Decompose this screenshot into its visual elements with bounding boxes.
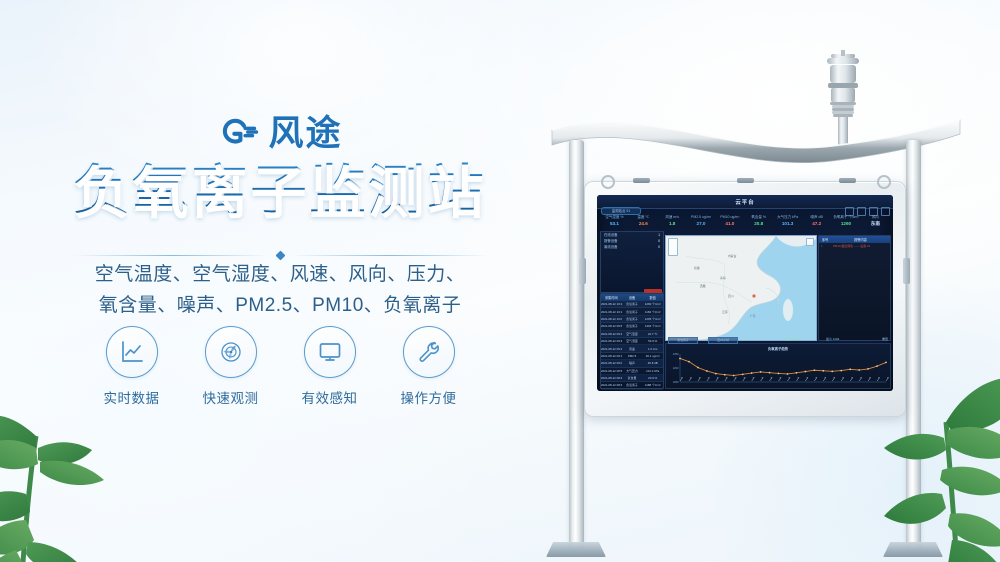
line-chart-icon [119,339,145,365]
table-cell: 1.6 m/s [642,347,663,351]
support-post-left [569,140,584,550]
kpi-value: 1.8 [659,220,686,227]
device-status-value: 0 [658,244,660,250]
kpi-metric: PM2.5 ug/m³27.0 [688,215,715,227]
kpi-metric: 氧含量 %20.8 [745,215,772,227]
table-cell: 2021-08-12 10:20 [601,302,622,306]
dashboard-screen[interactable]: 云平台 监测站点 01 空气湿度 %53.1温度 ℃24.6风速 m/s1.8P… [597,195,893,391]
brand-lockup: 风途 [0,112,560,154]
map-fullscreen-icon[interactable] [806,238,814,246]
table-cell: 2021-08-12 08:30 [601,383,622,387]
feature-icon-wrap [106,326,158,378]
kpi-metric: 大气压力 kPa101.3 [774,215,801,227]
kpi-value: 20.8 [745,220,772,227]
device-status-panel: 在线设备1报警设备0离线设备0 [600,231,664,293]
table-row[interactable]: 2021-08-12 09:10PM2.526.1 ug/m³ [601,353,663,360]
map-region-label: 新疆 [694,266,700,270]
table-cell: 2021-08-12 09:20 [601,347,622,351]
kpi-row-right: 噪声 dB47.2负氧离子 个/cm³1260风向东南 [803,215,889,227]
feature-item-effective-sensing: 有效感知 [299,326,361,407]
divider-line-right [292,255,488,256]
feature-item-realtime-data: 实时数据 [101,326,163,407]
alert-content: PM10 超出阈值 —— 设备 01 [833,244,890,248]
table-cell: 2021-08-12 10:10 [601,310,622,314]
table-cell: 53.9 % [642,339,663,343]
kpi-metric: 噪声 dB47.2 [803,215,830,227]
device-status-label: 离线设备 [604,244,618,250]
table-cell: 2021-08-12 10:00 [601,317,622,321]
mount-clip [633,178,650,183]
kpi-value: 1260 [832,220,859,227]
title-divider [0,250,560,260]
side-bracket-right [903,258,910,284]
alert-col-content: 报警内容 [831,237,890,242]
table-cell: PM2.5 [622,354,643,358]
page-title: 负氧离子监测站 [0,160,560,225]
alert-index: 1 [821,244,833,248]
alert-row: 1 PM10 超出阈值 —— 设备 01 [819,243,890,249]
table-cell: 1184 个/cm³ [642,310,663,314]
divider-diamond [275,250,285,260]
station-selector[interactable]: 监测站点 01 [601,207,641,215]
promo-banner: 风途 负氧离子监测站 空气温度、空气湿度、风速、风向、压力、 氧含量、噪声、PM… [0,0,1000,562]
map-region-label: 广东 [750,314,756,318]
table-row[interactable]: 2021-08-12 09:00噪声46.8 dB [601,360,663,367]
feature-icon-wrap [403,326,455,378]
kpi-metric: 空气湿度 %53.1 [601,215,628,227]
table-row[interactable]: 2021-08-12 09:30空气湿度53.9 % [601,338,663,345]
feature-icon-wrap [205,326,257,378]
chart-max-badge: 最大 1302 [786,337,800,342]
table-cell: 负氧离子 [622,324,643,328]
table-column-header: 采集时间 [601,295,622,300]
table-cell: 2021-08-12 08:50 [601,369,622,373]
kpi-value: 101.3 [774,220,801,227]
feature-label: 操作方便 [398,387,460,407]
alert-panel[interactable]: 序号 报警内容 1 PM10 超出阈值 —— 设备 01 [818,235,891,341]
table-cell: 2021-08-12 09:40 [601,332,622,336]
base-plate-left [546,542,606,557]
subtitle-line-1: 空气温度、空气湿度、风速、风向、压力、 [0,260,560,291]
table-cell: 2021-08-12 08:40 [601,376,622,380]
realtime-data-table[interactable]: 采集时间设备数值 2021-08-12 10:20负氧离子1260 个/cm³2… [600,293,664,389]
station-selector-label: 监测站点 01 [602,208,640,214]
table-cell: 噪声 [622,361,643,365]
device-status-rows: 在线设备1报警设备0离线设备0 [601,232,663,250]
table-alert-tag [644,289,662,293]
subtitle: 空气温度、空气湿度、风速、风向、压力、 氧含量、噪声、PM2.5、PM10、负氧… [0,260,560,322]
support-post-right [906,140,921,550]
feature-item-easy-operation: 操作方便 [398,326,460,407]
kpi-metric: 温度 ℃24.6 [630,215,657,227]
table-cell: 1205 个/cm³ [642,317,663,321]
svg-text:1200: 1200 [673,366,679,370]
feature-list: 实时数据 快速观测 [0,326,560,407]
table-row[interactable]: 2021-08-12 09:40空气温度24.7 ℃ [601,331,663,338]
monitoring-station-device: 云平台 监测站点 01 空气湿度 %53.1温度 ℃24.6风速 m/s1.8P… [540,48,1000,562]
kpi-metric: 风速 m/s1.8 [659,215,686,227]
table-row[interactable]: 2021-08-12 09:50负氧离子1302 个/cm³ [601,323,663,330]
wave-canopy [546,104,966,166]
table-cell: 负氧离子 [622,383,643,387]
chart-min-badge: 最小 1104 [826,337,839,342]
table-column-header: 数值 [642,295,663,300]
side-bracket-left [579,258,586,284]
map-region-label: 四川 [728,294,734,298]
left-text-column: 风途 负氧离子监测站 空气温度、空气湿度、风速、风向、压力、 氧含量、噪声、PM… [0,0,560,562]
table-cell: 1302 个/cm³ [642,324,663,328]
subtitle-line-2: 氧含量、噪声、PM2.5、PM10、负氧离子 [0,291,560,322]
table-cell: 空气湿度 [622,339,643,343]
map-region-label: 内蒙古 [728,254,736,258]
mount-clip [839,178,856,183]
table-cell: 负氧离子 [622,317,643,321]
map-region-label: 青海 [720,276,726,280]
table-header-row: 采集时间设备数值 [601,294,663,301]
table-cell: 空气温度 [622,332,643,336]
table-row[interactable]: 2021-08-12 08:40氧含量20.9 % [601,375,663,382]
kpi-value: 东南 [862,220,889,227]
alert-col-index: 序号 [819,237,831,242]
wind-g-logo-icon [217,112,259,154]
table-row[interactable]: 2021-08-12 10:00负氧离子1205 个/cm³ [601,316,663,323]
table-row[interactable]: 2021-08-12 08:50大气压力101.2 kPa [601,368,663,375]
kpi-value: 41.0 [716,220,743,227]
table-cell: 2021-08-12 09:30 [601,339,622,343]
table-cell: 负氧离子 [622,302,643,306]
feature-label: 有效感知 [299,387,361,407]
table-cell: 1260 个/cm³ [642,302,663,306]
chart-range-select[interactable]: 近24小时 [708,337,738,344]
table-cell: 2021-08-12 09:00 [601,361,622,365]
svg-text:1350: 1350 [673,352,679,356]
kpi-value: 27.0 [688,220,715,227]
kpi-value: 53.1 [601,220,628,227]
radar-fan-icon [218,339,244,365]
feature-label: 快速观测 [200,387,262,407]
kpi-row-left: 空气湿度 %53.1温度 ℃24.6风速 m/s1.8PM2.5 ug/m³27… [601,215,801,227]
hanger-ring-right [877,175,891,189]
chart-reset-button[interactable]: 重置 [882,337,888,342]
table-row[interactable]: 2021-08-12 10:20负氧离子1260 个/cm³ [601,301,663,308]
table-row[interactable]: 2021-08-12 10:10负氧离子1184 个/cm³ [601,308,663,315]
wrench-icon [416,339,442,365]
station-map[interactable]: 新疆 内蒙古 西藏 青海 四川 云南 广东 [665,235,817,341]
table-column-header: 设备 [622,295,643,300]
chart-title: 负氧离子趋势 [666,346,890,351]
feature-icon-wrap [304,326,356,378]
table-row[interactable]: 2021-08-12 08:30负氧离子1188 个/cm³ [601,382,663,389]
chart-metric-select[interactable]: 负氧离子 [668,337,698,344]
kpi-metric: 负氧离子 个/cm³1260 [832,215,859,227]
kpi-metric: PM10 ug/m³41.0 [716,215,743,227]
page-title-text: 负氧离子监测站 [74,160,487,223]
mount-clip [737,178,754,183]
alert-header-row: 序号 报警内容 [819,236,890,243]
table-cell: 26.1 ug/m³ [642,354,663,358]
feature-item-fast-observation: 快速观测 [200,326,262,407]
table-cell: 1188 个/cm³ [642,383,663,387]
kpi-metric: 风向东南 [862,215,889,227]
table-body: 2021-08-12 10:20负氧离子1260 个/cm³2021-08-12… [601,301,663,390]
device-status-row: 离线设备0 [601,244,663,250]
svg-text:1050: 1050 [673,380,679,384]
brand-name: 风途 [268,116,342,151]
feature-label: 实时数据 [101,387,163,407]
table-cell: 46.8 dB [642,361,663,365]
screen-title: 云平台 [597,198,893,206]
monitor-icon [317,339,343,365]
map-region-label: 云南 [722,310,728,314]
map-region-label: 西藏 [700,284,706,288]
base-plate-right [883,542,943,557]
hanger-ring-left [601,175,615,189]
table-row[interactable]: 2021-08-12 09:20风速1.6 m/s [601,345,663,352]
table-cell: 氧含量 [622,376,643,380]
table-cell: 2021-08-12 09:10 [601,354,622,358]
table-cell: 101.2 kPa [642,369,663,373]
china-map-graphic [666,236,816,340]
kpi-value: 47.2 [803,220,830,227]
table-cell: 负氧离子 [622,310,643,314]
table-cell: 20.9 % [642,376,663,380]
map-zoom-control[interactable] [668,238,678,256]
divider-line-left [73,255,269,256]
kpi-value: 24.6 [630,220,657,227]
display-enclosure: 云平台 监测站点 01 空气湿度 %53.1温度 ℃24.6风速 m/s1.8P… [584,181,906,417]
table-cell: 2021-08-12 09:50 [601,324,622,328]
table-cell: 24.7 ℃ [642,332,663,336]
table-cell: 大气压力 [622,369,643,373]
table-cell: 风速 [622,347,643,351]
trend-chart[interactable]: 负氧离子 近24小时 最大 1302 最小 1104 重置 负氧离子趋势 105… [665,343,891,389]
